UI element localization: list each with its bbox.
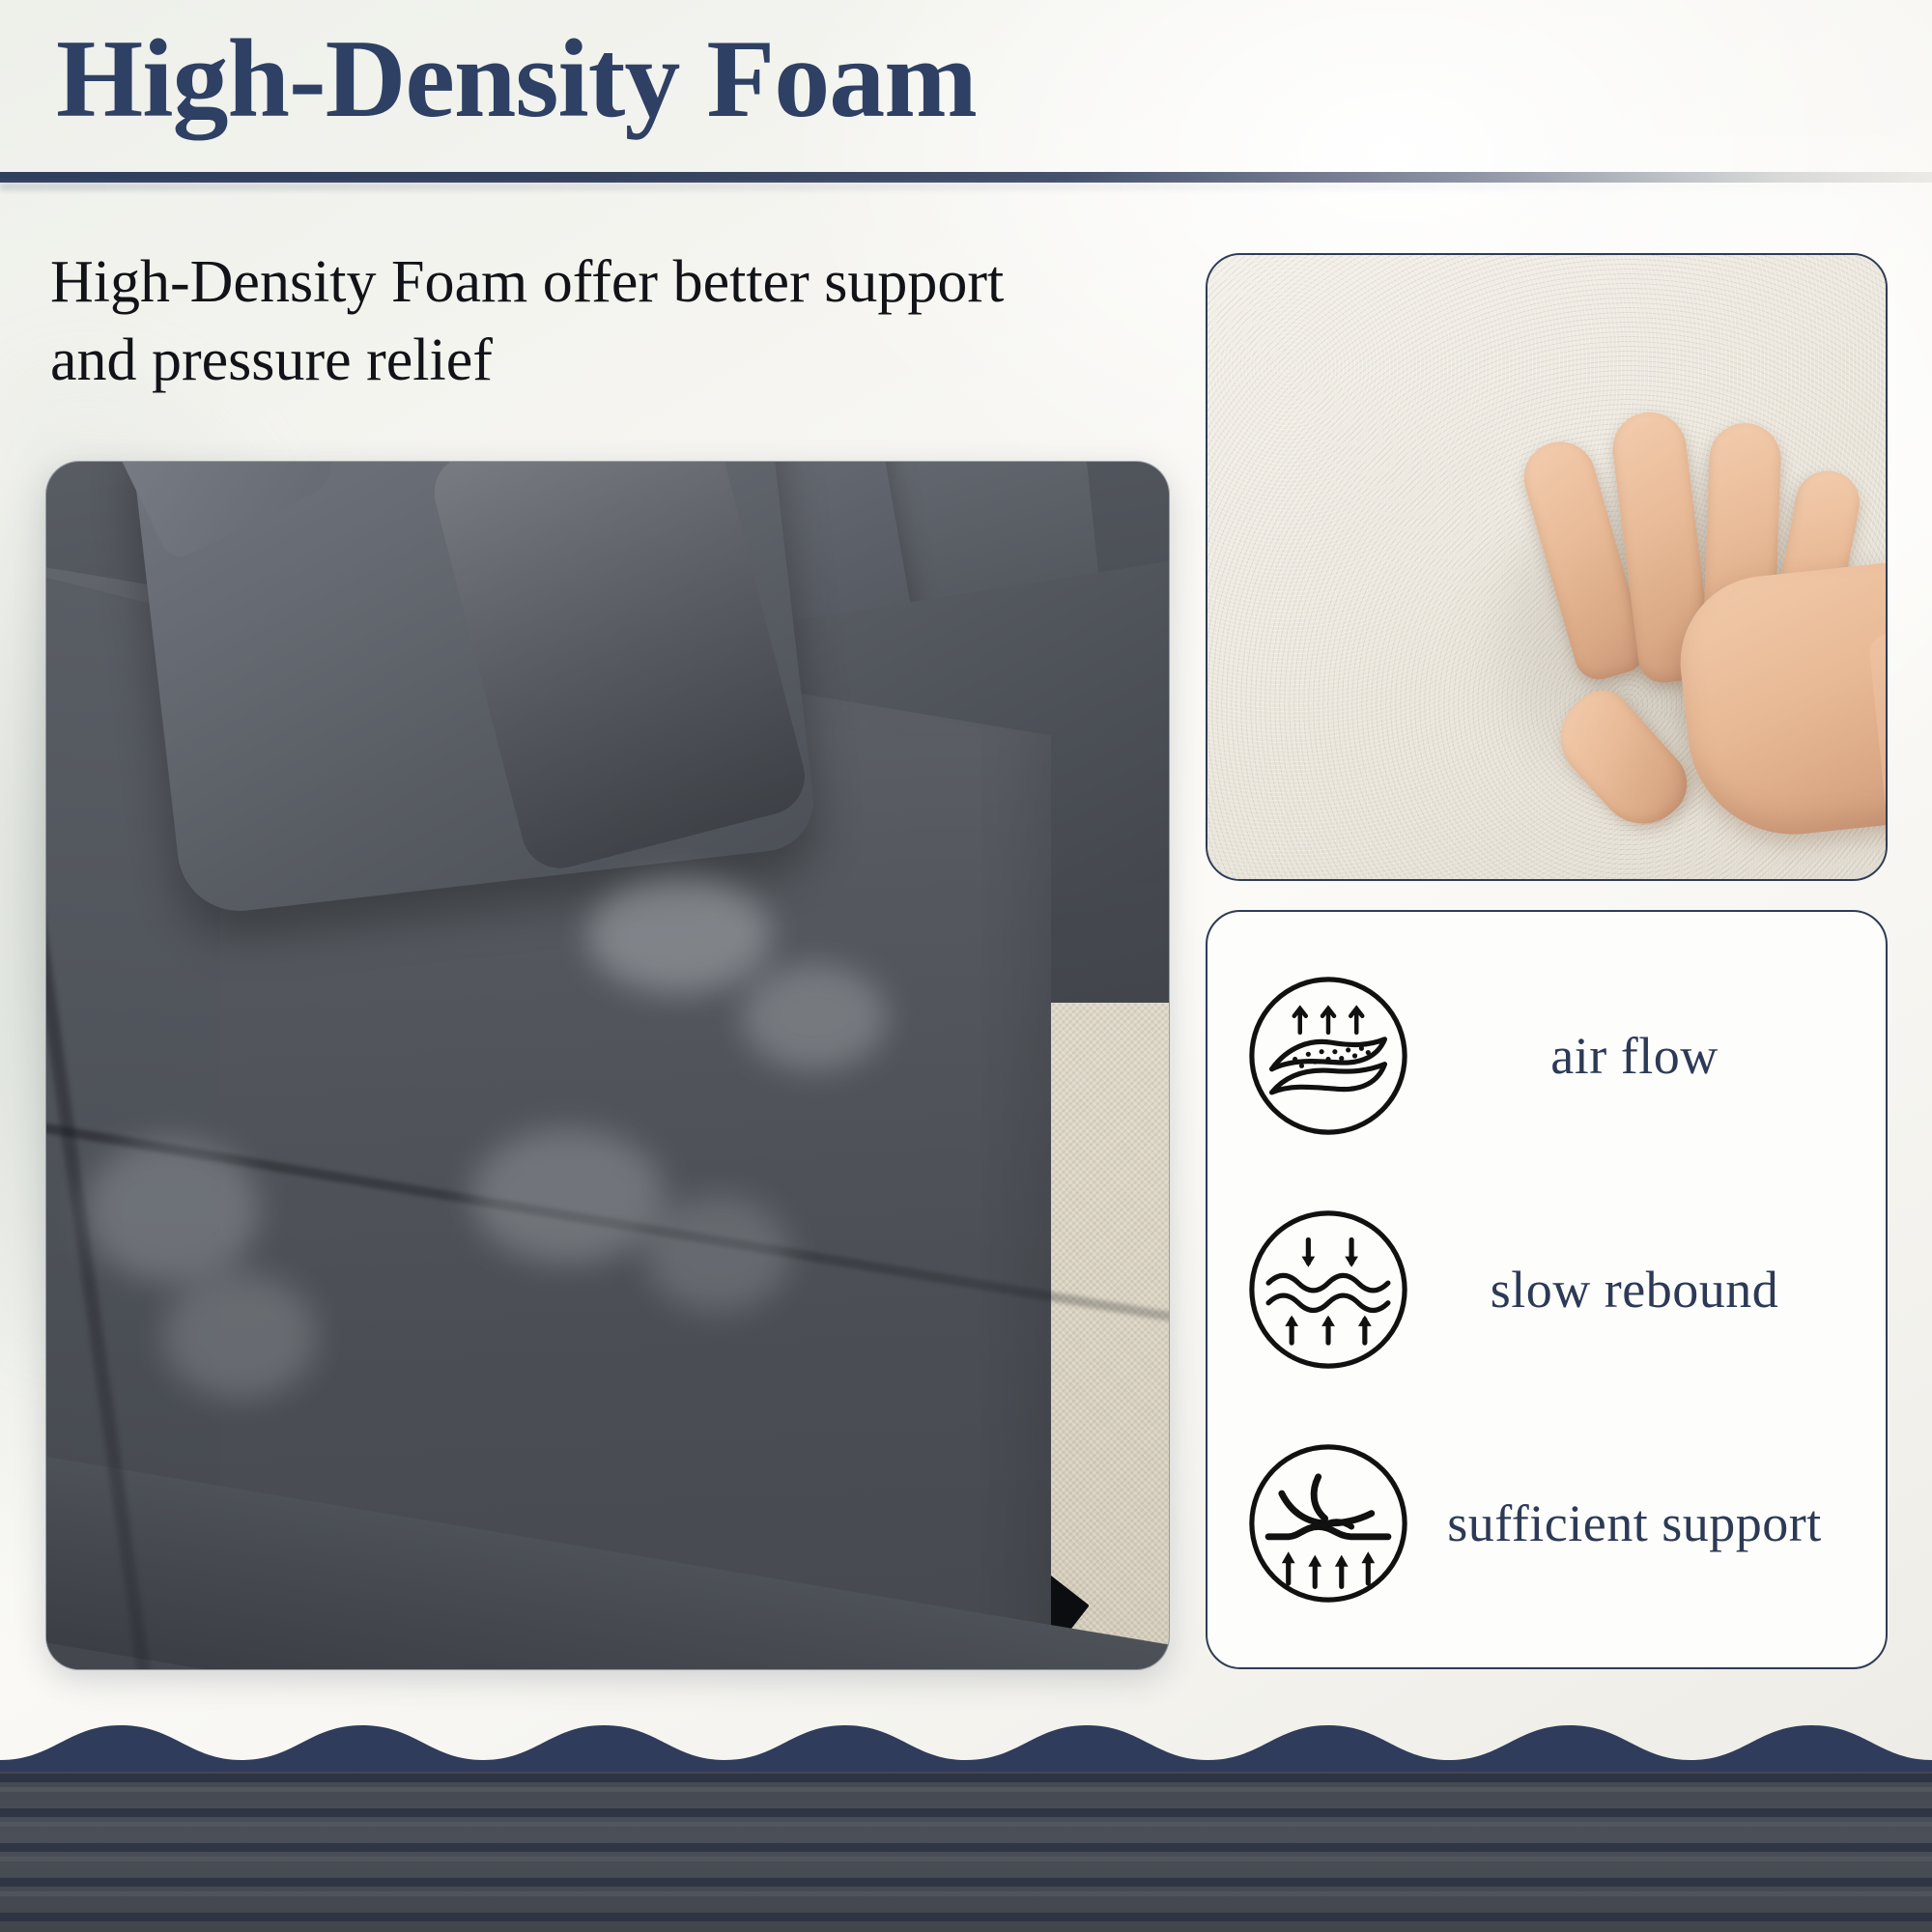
seat-highlight: [645, 1196, 790, 1312]
seat-highlight: [587, 877, 771, 993]
sofa-product-photo: [46, 462, 1169, 1669]
thumb: [1543, 678, 1701, 841]
seat-highlight: [85, 1138, 259, 1283]
bottom-wave-band: [0, 1706, 1932, 1932]
seat-highlight: [471, 1128, 665, 1264]
feature-benefits-card: air flow slow rebound: [1206, 910, 1888, 1669]
slow-rebound-icon: [1240, 1207, 1416, 1373]
page-title: High-Density Foam: [56, 21, 977, 139]
seat-highlight: [742, 964, 887, 1070]
hand-pressing-foam: [1522, 398, 1888, 852]
feature-label: air flow: [1416, 1026, 1853, 1086]
feature-row-sufficient-support: sufficient support: [1207, 1440, 1886, 1606]
air-flow-icon: [1240, 973, 1416, 1139]
subtitle-text: High-Density Foam offer better support a…: [50, 243, 1045, 399]
foam-press-photo: [1206, 253, 1888, 881]
sufficient-support-icon: [1240, 1440, 1416, 1606]
feature-row-air-flow: air flow: [1207, 973, 1886, 1139]
feature-row-slow-rebound: slow rebound: [1207, 1207, 1886, 1373]
header-divider-rule: [0, 172, 1932, 183]
seat-highlight: [162, 1273, 317, 1399]
feature-label: slow rebound: [1416, 1260, 1853, 1320]
header-divider-shadow: [0, 183, 1932, 190]
feature-label: sufficient support: [1416, 1493, 1853, 1553]
pillow-fold-shadow: [426, 462, 813, 876]
